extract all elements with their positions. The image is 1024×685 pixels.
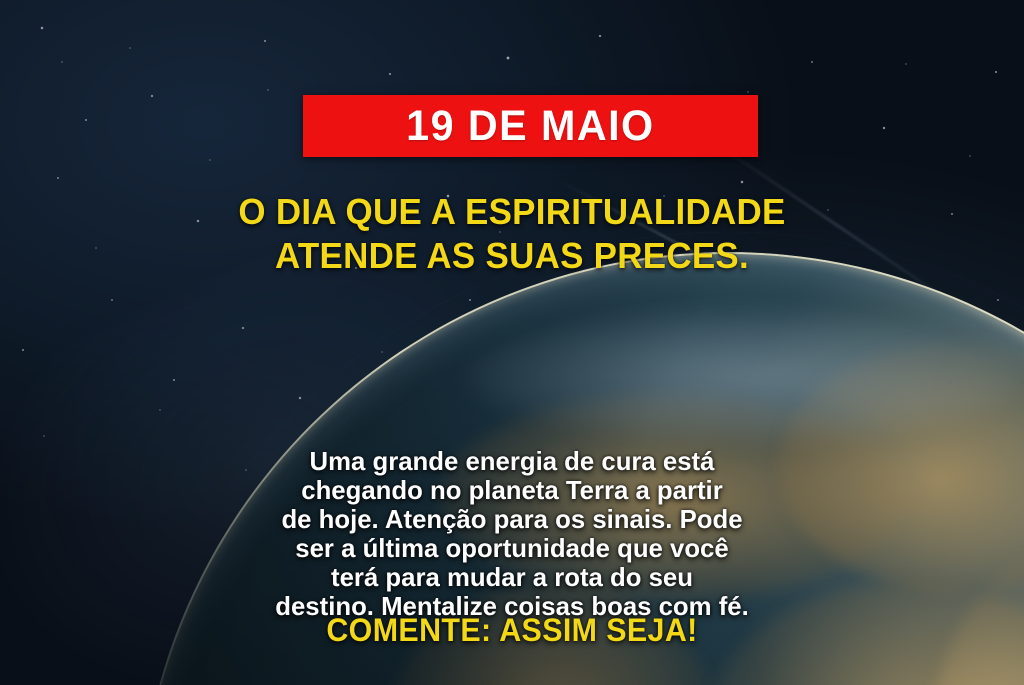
body-copy-line-3: de hoje. Atenção para os sinais. Pode xyxy=(61,505,964,534)
body-copy-line-1: Uma grande energia de cura está xyxy=(61,447,964,476)
poster-content: 19 DE MAIO O DIA QUE A ESPIRITUALIDADE A… xyxy=(0,0,1024,685)
body-copy-line-4: ser a última oportunidade que você xyxy=(61,534,964,563)
date-badge: 19 DE MAIO xyxy=(303,95,758,157)
body-copy: Uma grande energia de cura está chegando… xyxy=(5,447,1019,621)
page-title: O DIA QUE A ESPIRITUALIDADE ATENDE AS SU… xyxy=(15,190,1008,278)
poster-canvas: 19 DE MAIO O DIA QUE A ESPIRITUALIDADE A… xyxy=(0,0,1024,685)
body-copy-line-2: chegando no planeta Terra a partir xyxy=(61,476,964,505)
headline-line-1: O DIA QUE A ESPIRITUALIDADE xyxy=(60,190,964,234)
headline-line-2: ATENDE AS SUAS PRECES. xyxy=(60,234,964,278)
date-badge-label: 19 DE MAIO xyxy=(406,105,654,148)
body-copy-line-5: terá para mudar a rota do seu xyxy=(61,563,964,592)
call-to-action-text: COMENTE: ASSIM SEJA! xyxy=(26,614,999,646)
